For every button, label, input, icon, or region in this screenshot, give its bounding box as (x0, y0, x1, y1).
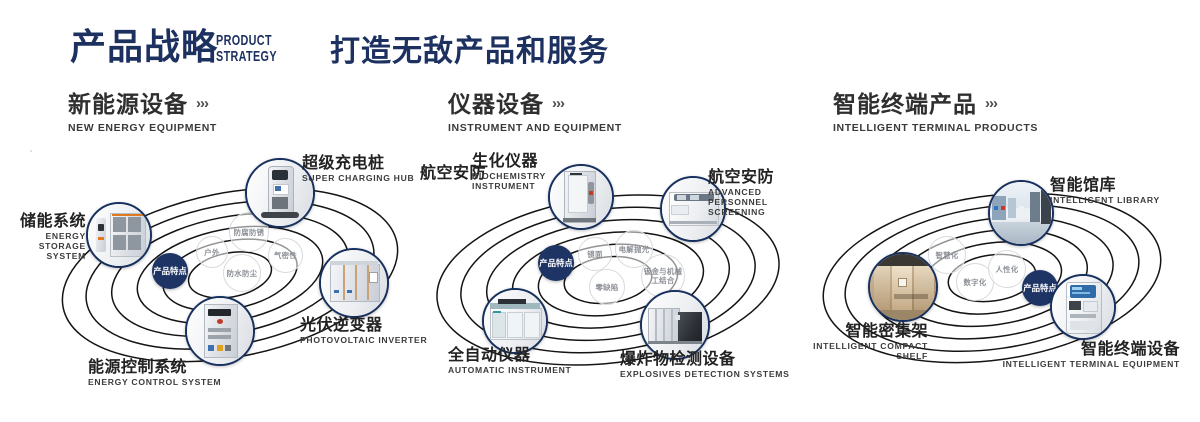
section-header-instrument: 仪器设备››› INSTRUMENT AND EQUIPMENT (448, 92, 622, 134)
label-intelligent-library: 智能馆库 INTELLIGENT LIBRARY (1050, 176, 1160, 206)
section-title-cn: 智能终端产品 (833, 92, 977, 118)
label-energy-storage-system: 储能系统 ENERGY STORAGE SYSTEM (0, 212, 86, 262)
label-super-charging-hub: 超级充电桩 SUPER CHARGING HUB (302, 154, 414, 184)
label-intelligent-compact-shelf: 智能密集架 INTELLIGENT COMPACT SHELF (798, 322, 928, 362)
cluster-instrument: 产品特点 镜面 电解抛光 钣金与机械工结合 零缺陷 航空安防 (412, 150, 812, 400)
feature-bubble-airtight: 气密性 (268, 238, 303, 273)
chevron-right-icon: ››› (985, 95, 997, 112)
product-strategy-infographic: 产品战略 PRODUCT STRATEGY 打造无敌产品和服务 新能源设备›››… (0, 0, 1200, 422)
label-energy-control-system: 能源控制系统 ENERGY CONTROL SYSTEM (88, 358, 221, 388)
feature-bubble-waterproof: 防水防尘 (223, 254, 261, 292)
node-energy-control-system[interactable] (185, 296, 255, 366)
section-title-en: NEW ENERGY EQUIPMENT (68, 122, 217, 134)
label-automatic-instrument: 全自动仪器 AUTOMATIC INSTRUMENT (448, 346, 571, 376)
label-intelligent-terminal-equipment: 智能终端设备 INTELLIGENT TERMINAL EQUIPMENT (980, 340, 1180, 370)
node-photovoltaic-inverter[interactable] (319, 248, 389, 318)
page-title-english: PRODUCT STRATEGY (216, 33, 277, 65)
page-title-english-line1: PRODUCT (216, 33, 277, 49)
cluster-intelligent-terminal: 产品特点 智慧化 数字化 人性化 智能馆库 IN (800, 150, 1200, 400)
label-advanced-personnel-screening: 航空安防 ADVANCED PERSONNEL SCREENING (708, 168, 800, 218)
label-explosives-detection-systems: 爆炸物检测设备 EXPLOSIVES DETECTION SYSTEMS (620, 350, 790, 380)
node-energy-storage-system[interactable] (86, 202, 152, 268)
label-biochemistry-instrument: 生化仪器 BIOCHEMISTRY INSTRUMENT (472, 152, 554, 192)
chevron-right-icon: ››› (552, 95, 564, 112)
node-biochemistry-instrument[interactable] (548, 164, 614, 230)
cluster-new-energy: 产品特点 户外 防腐防锈 防水防尘 气密性 (30, 150, 430, 400)
page-slogan: 打造无敌产品和服务 (330, 34, 609, 70)
section-header-new-energy: 新能源设备››› NEW ENERGY EQUIPMENT (68, 92, 217, 134)
page-title-english-line2: STRATEGY (216, 49, 277, 65)
node-intelligent-terminal-equipment[interactable] (1050, 274, 1116, 340)
node-intelligent-compact-shelf[interactable] (868, 252, 938, 322)
feature-bubble-outdoor: 户外 (196, 236, 228, 268)
feature-bubble-mirror: 镜面 (578, 237, 612, 271)
core-badge-product-features: 产品特点 (538, 245, 574, 281)
feature-bubble-humanized: 人性化 (988, 250, 1026, 288)
chevron-right-icon: ››› (196, 95, 208, 112)
section-title-en: INSTRUMENT AND EQUIPMENT (448, 122, 622, 134)
section-header-intelligent-terminal: 智能终端产品››› INTELLIGENT TERMINAL PRODUCTS (833, 92, 1038, 134)
page-header: 产品战略 PRODUCT STRATEGY 打造无敌产品和服务 (0, 0, 1200, 86)
node-intelligent-library[interactable] (988, 180, 1054, 246)
section-title-cn: 新能源设备 (68, 92, 188, 118)
section-title-cn: 仪器设备 (448, 92, 544, 118)
section-title-en: INTELLIGENT TERMINAL PRODUCTS (833, 122, 1038, 134)
page-title: 产品战略 (70, 28, 218, 68)
feature-bubble-zero-defect: 零缺陷 (589, 269, 625, 305)
label-photovoltaic-inverter: 光伏逆变器 PHOTOVOLTAIC INVERTER (300, 316, 427, 346)
core-badge-product-features: 产品特点 (152, 253, 188, 289)
